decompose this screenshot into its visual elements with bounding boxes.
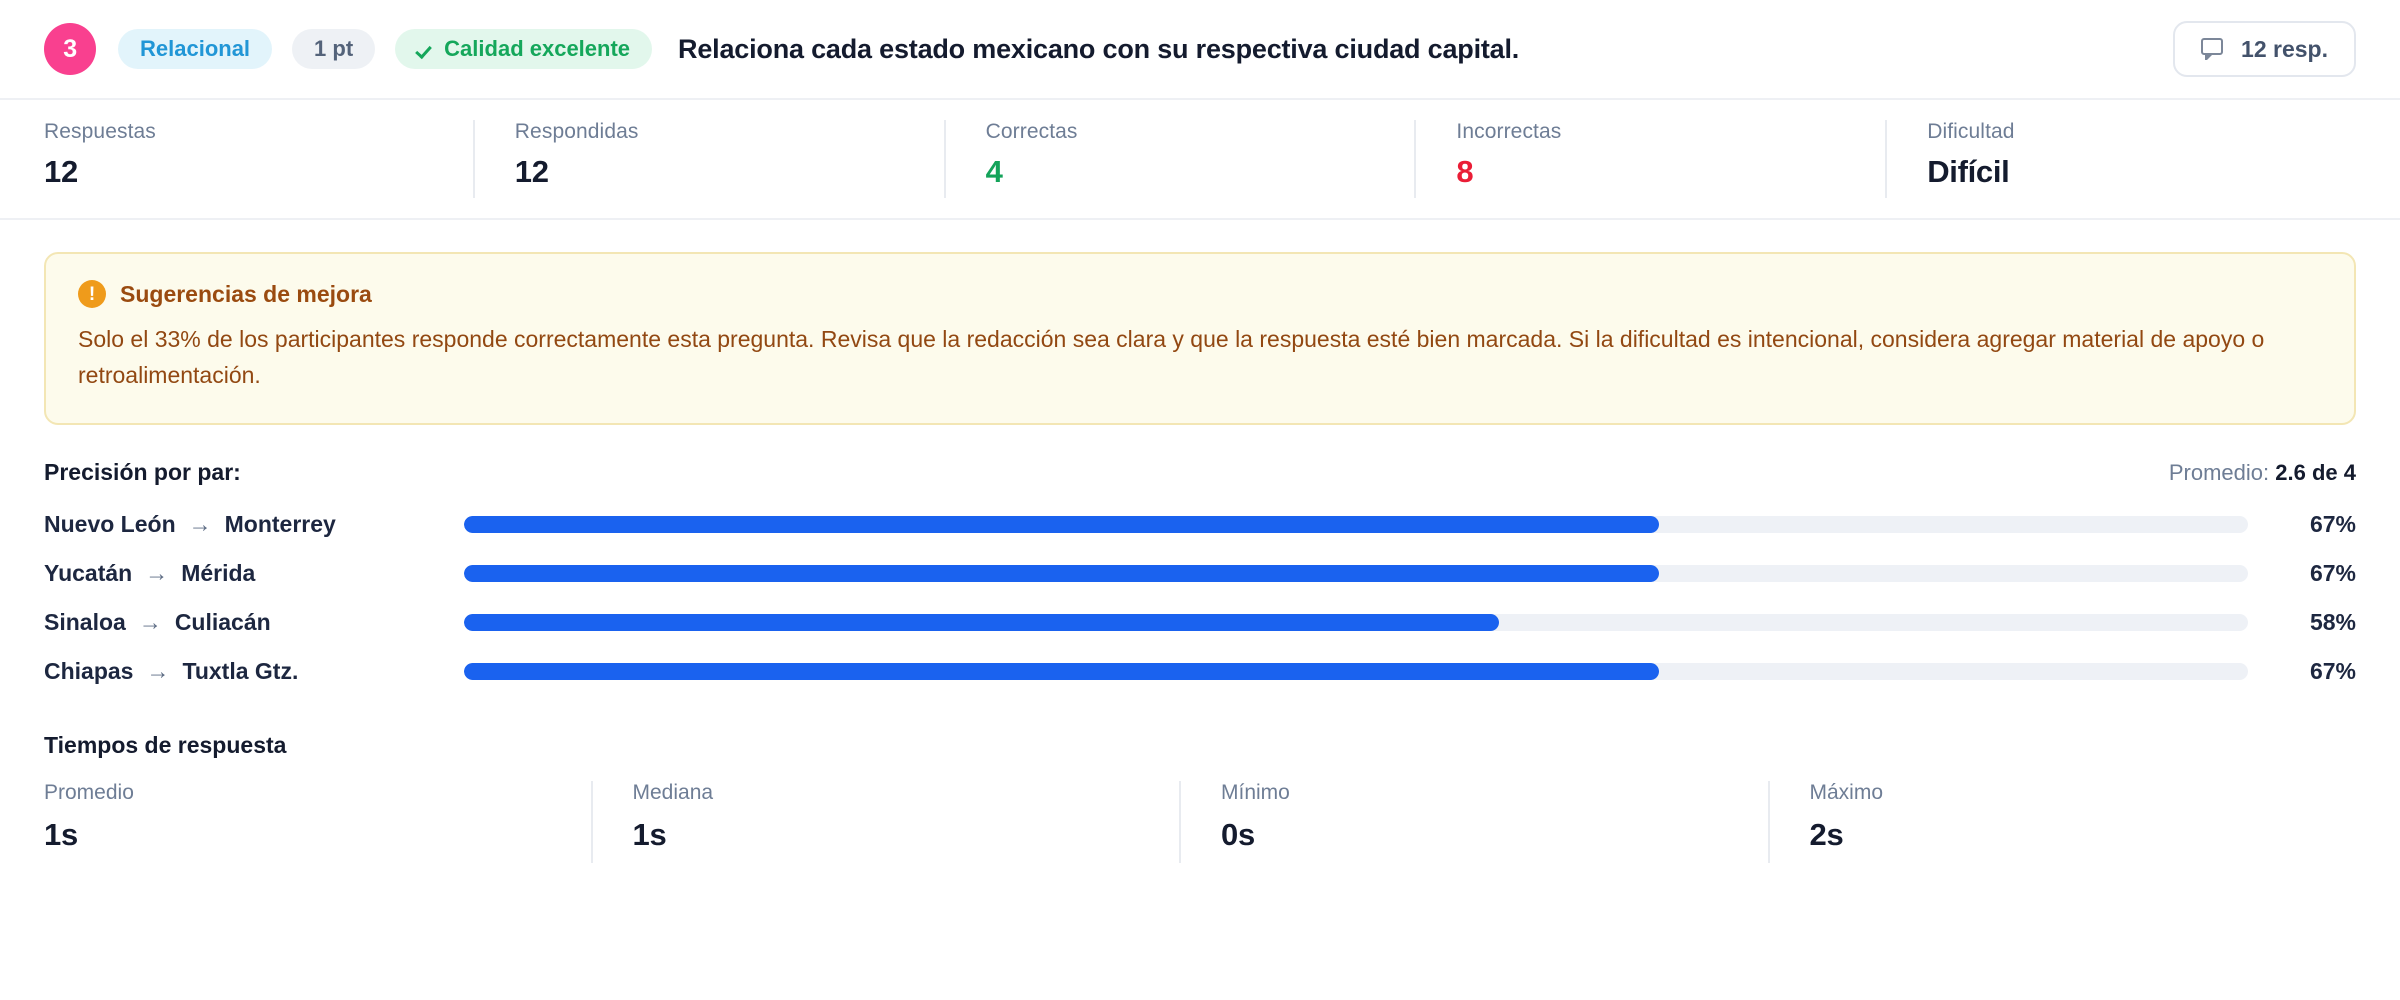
times-strip: Promedio 1s Mediana 1s Mínimo 0s Máximo …: [0, 759, 2400, 863]
suggestion-header: ! Sugerencias de mejora: [78, 280, 2322, 308]
arrow-right-icon: →: [189, 513, 212, 536]
quality-badge: Calidad excelente: [395, 29, 652, 69]
time-label: Máximo: [1810, 781, 2357, 805]
times-title: Tiempos de respuesta: [0, 696, 2400, 759]
suggestion-banner: ! Sugerencias de mejora Solo el 33% de l…: [44, 252, 2356, 425]
responses-chip[interactable]: 12 resp.: [2173, 21, 2356, 77]
pair-row: Nuevo León → Monterrey 67%: [44, 500, 2356, 549]
stat-value: 8: [1456, 154, 1885, 190]
suggestion-body: Solo el 33% de los participantes respond…: [78, 322, 2322, 393]
pair-percent: 67%: [2248, 511, 2356, 538]
time-label: Mediana: [633, 781, 1180, 805]
arrow-right-icon: →: [139, 611, 162, 634]
stat-value: 12: [515, 154, 944, 190]
pair-bar-track: [464, 614, 2248, 631]
speech-bubble-icon: [2201, 38, 2227, 60]
stat-correctas: Correctas 4: [944, 120, 1415, 198]
warning-icon: !: [78, 280, 106, 308]
precision-average-value: 2.6 de 4: [2275, 460, 2356, 485]
pair-label: Sinaloa → Culiacán: [44, 609, 464, 636]
pair-bar-track: [464, 565, 2248, 582]
pair-right: Monterrey: [225, 511, 336, 538]
stat-value: Difícil: [1927, 154, 2356, 190]
pair-left: Yucatán: [44, 560, 132, 587]
pair-bar-track: [464, 516, 2248, 533]
time-cell-mediana: Mediana 1s: [591, 781, 1180, 863]
stat-respondidas: Respondidas 12: [473, 120, 944, 198]
time-cell-minimo: Mínimo 0s: [1179, 781, 1768, 863]
pair-label: Yucatán → Mérida: [44, 560, 464, 587]
stat-value: 4: [986, 154, 1415, 190]
pair-percent: 67%: [2248, 560, 2356, 587]
arrow-right-icon: →: [146, 660, 169, 683]
time-value: 0s: [1221, 817, 1768, 853]
check-icon: [417, 40, 435, 58]
precision-title: Precisión por par:: [44, 459, 241, 486]
time-cell-maximo: Máximo 2s: [1768, 781, 2357, 863]
time-value: 1s: [633, 817, 1180, 853]
pair-row: Yucatán → Mérida 67%: [44, 549, 2356, 598]
pair-left: Chiapas: [44, 658, 133, 685]
stat-label: Dificultad: [1927, 120, 2356, 144]
time-cell-promedio: Promedio 1s: [44, 781, 591, 863]
pair-right: Mérida: [181, 560, 255, 587]
precision-header: Precisión por par: Promedio: 2.6 de 4: [0, 425, 2400, 486]
pair-right: Culiacán: [175, 609, 271, 636]
question-analytics-card: 3 Relacional 1 pt Calidad excelente Rela…: [0, 0, 2400, 1000]
quality-badge-label: Calidad excelente: [444, 36, 630, 62]
pair-left: Nuevo León: [44, 511, 176, 538]
stats-strip: Respuestas 12 Respondidas 12 Correctas 4…: [0, 100, 2400, 220]
precision-pair-list: Nuevo León → Monterrey 67% Yucatán → Mér…: [0, 486, 2400, 696]
stat-incorrectas: Incorrectas 8: [1414, 120, 1885, 198]
pair-bar-fill: [464, 663, 1659, 680]
pair-percent: 58%: [2248, 609, 2356, 636]
precision-average: Promedio: 2.6 de 4: [2169, 460, 2356, 486]
pair-right: Tuxtla Gtz.: [182, 658, 298, 685]
stat-label: Incorrectas: [1456, 120, 1885, 144]
time-value: 1s: [44, 817, 591, 853]
pair-label: Nuevo León → Monterrey: [44, 511, 464, 538]
question-number-badge: 3: [44, 23, 96, 75]
question-text: Relaciona cada estado mexicano con su re…: [678, 34, 1519, 65]
question-type-badge: Relacional: [118, 29, 272, 69]
pair-percent: 67%: [2248, 658, 2356, 685]
suggestion-banner-wrap: ! Sugerencias de mejora Solo el 33% de l…: [0, 220, 2400, 425]
arrow-right-icon: →: [145, 562, 168, 585]
pair-label: Chiapas → Tuxtla Gtz.: [44, 658, 464, 685]
stat-dificultad: Dificultad Difícil: [1885, 120, 2356, 198]
pair-row: Sinaloa → Culiacán 58%: [44, 598, 2356, 647]
question-points-badge: 1 pt: [292, 29, 375, 69]
time-label: Mínimo: [1221, 781, 1768, 805]
stat-value: 12: [44, 154, 473, 190]
pair-left: Sinaloa: [44, 609, 126, 636]
pair-row: Chiapas → Tuxtla Gtz. 67%: [44, 647, 2356, 696]
responses-chip-label: 12 resp.: [2241, 36, 2328, 63]
stat-label: Respuestas: [44, 120, 473, 144]
stat-label: Correctas: [986, 120, 1415, 144]
stat-label: Respondidas: [515, 120, 944, 144]
pair-bar-fill: [464, 565, 1659, 582]
pair-bar-fill: [464, 614, 1499, 631]
time-label: Promedio: [44, 781, 591, 805]
pair-bar-fill: [464, 516, 1659, 533]
precision-average-label: Promedio:: [2169, 460, 2269, 485]
pair-bar-track: [464, 663, 2248, 680]
question-header: 3 Relacional 1 pt Calidad excelente Rela…: [0, 0, 2400, 100]
time-value: 2s: [1810, 817, 2357, 853]
stat-respuestas: Respuestas 12: [44, 120, 473, 198]
suggestion-title: Sugerencias de mejora: [120, 281, 372, 308]
